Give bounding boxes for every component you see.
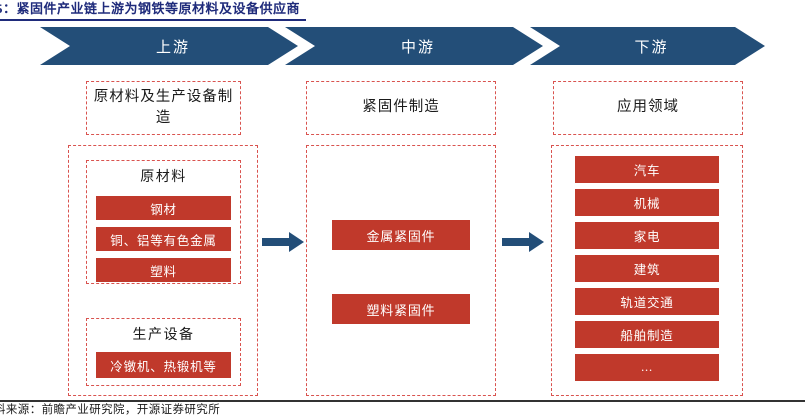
group-title-production-equipment: 生产设备 bbox=[87, 324, 240, 344]
stage-label-downstream: 下游 bbox=[634, 36, 668, 57]
midstream-header-label: 紧固件制造 bbox=[362, 97, 440, 118]
midstream-container bbox=[306, 145, 496, 396]
item-cold-hot-forging-machines: 冷镦机、热锻机等 bbox=[96, 352, 231, 378]
downstream-item-1: 汽车 bbox=[575, 156, 719, 183]
midstream-header-box: 紧固件制造 bbox=[306, 81, 496, 135]
downstream-item-7: ... bbox=[575, 354, 719, 381]
value-chain-stage-band: 上游 中游 下游 bbox=[40, 27, 765, 65]
item-metal-fasteners: 金属紧固件 bbox=[332, 220, 470, 250]
downstream-item-5: 轨道交通 bbox=[575, 288, 719, 315]
downstream-item-3: 家电 bbox=[575, 222, 719, 249]
stage-label-midstream: 中游 bbox=[401, 36, 435, 57]
source-note: 料来源：前瞻产业研究院，开源证券研究所 bbox=[0, 401, 220, 417]
item-steel: 钢材 bbox=[96, 196, 231, 220]
downstream-item-2: 机械 bbox=[575, 189, 719, 216]
stage-label-upstream: 上游 bbox=[156, 36, 190, 57]
downstream-item-4: 建筑 bbox=[575, 255, 719, 282]
item-nonferrous-metals: 铜、铝等有色金属 bbox=[96, 227, 231, 251]
downstream-item-6: 船舶制造 bbox=[575, 321, 719, 348]
item-plastic-fasteners: 塑料紧固件 bbox=[332, 294, 470, 324]
arrow-midstream-to-downstream-icon bbox=[502, 232, 544, 252]
upstream-header-box: 原材料及生产设备制造 bbox=[86, 81, 241, 135]
figure-title: 5：紧固件产业链上游为钢铁等原材料及设备供应商 bbox=[0, 0, 316, 18]
arrow-upstream-to-midstream-icon bbox=[262, 232, 304, 252]
item-plastic: 塑料 bbox=[96, 258, 231, 282]
stage-chevron-midstream: 中游 bbox=[285, 27, 543, 65]
stage-chevron-downstream: 下游 bbox=[530, 27, 765, 65]
downstream-header-box: 应用领域 bbox=[553, 81, 743, 135]
upstream-header-label: 原材料及生产设备制造 bbox=[91, 87, 236, 129]
downstream-header-label: 应用领域 bbox=[617, 97, 679, 118]
title-underline-rule bbox=[0, 19, 306, 21]
stage-chevron-upstream: 上游 bbox=[40, 27, 298, 65]
group-title-raw-materials: 原材料 bbox=[87, 166, 240, 186]
